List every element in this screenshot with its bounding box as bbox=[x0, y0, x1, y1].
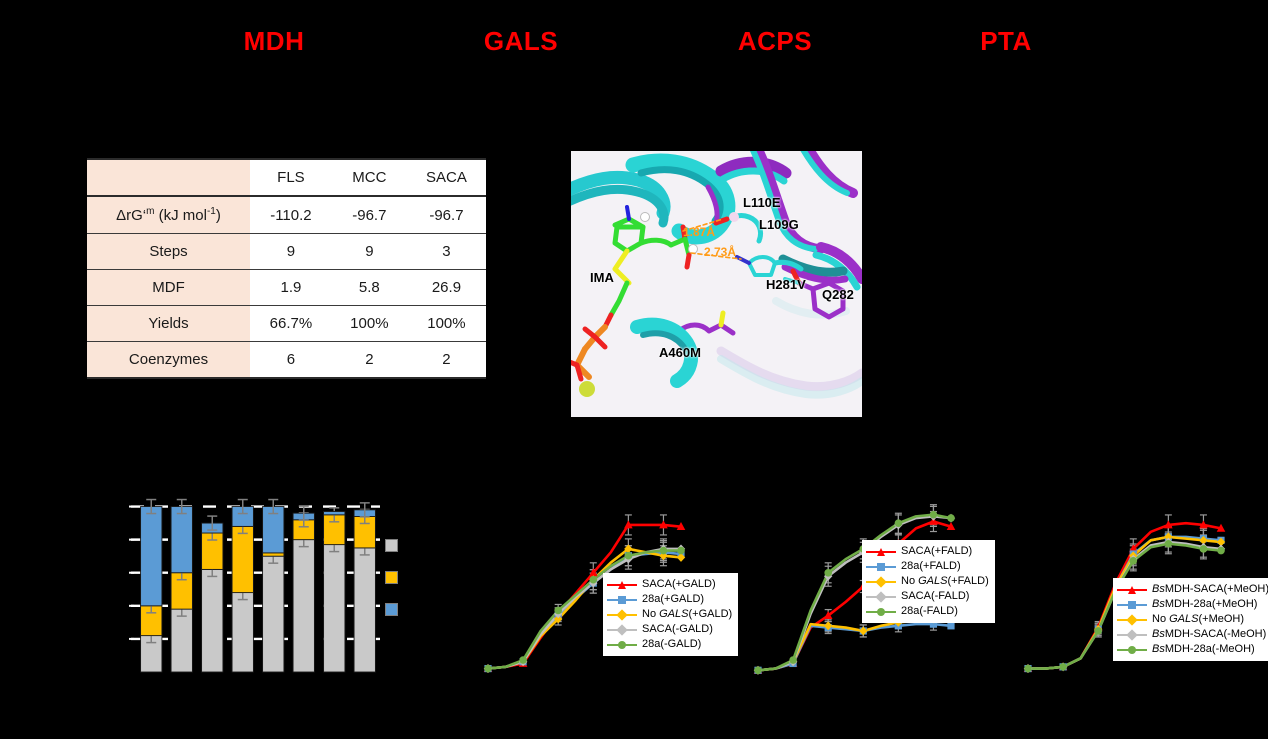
table-cell: 3 bbox=[407, 234, 486, 270]
table-header-cell-mcc: MCC bbox=[332, 159, 407, 196]
legend-item: 28a(+GALD) bbox=[607, 592, 732, 607]
legend-item: 28a(+FALD) bbox=[866, 559, 989, 574]
bar-segment bbox=[293, 540, 314, 672]
table-cell: -96.7 bbox=[332, 196, 407, 234]
enzyme-label-gals: GALS bbox=[484, 26, 558, 57]
legend-fald: SACA(+FALD)28a(+FALD)No GALS(+FALD)SACA(… bbox=[862, 540, 995, 623]
legend-swatch bbox=[1117, 644, 1147, 655]
row-label: Steps bbox=[87, 234, 250, 270]
legend-gald: SACA(+GALD)28a(+GALD)No GALS(+GALD)SACA(… bbox=[603, 573, 738, 656]
bar-legend-swatch-segment-yellow bbox=[385, 571, 398, 584]
legend-meoh: BsMDH-SACA(+MeOH)BsMDH-28a(+MeOH)No GALS… bbox=[1113, 578, 1268, 661]
residue-label-q282: Q282 bbox=[822, 287, 854, 302]
residue-label-l109g: L109G bbox=[759, 217, 799, 232]
data-point-marker bbox=[754, 666, 762, 674]
legend-item: SACA(-GALD) bbox=[607, 622, 732, 637]
legend-item: SACA(+FALD) bbox=[866, 544, 989, 559]
legend-label: 28a(+FALD) bbox=[901, 559, 961, 574]
enzyme-label-mdh: MDH bbox=[244, 26, 305, 57]
legend-swatch bbox=[607, 624, 637, 635]
legend-label: BsMDH-28a(-MeOH) bbox=[1152, 642, 1255, 657]
table-row: Yields66.7%100%100% bbox=[87, 306, 486, 342]
bar-chart-legend bbox=[385, 539, 398, 635]
bar-segment bbox=[324, 512, 345, 515]
data-point-marker bbox=[519, 656, 527, 664]
bar-segment bbox=[263, 553, 284, 556]
data-point-marker bbox=[789, 656, 797, 664]
legend-swatch bbox=[607, 579, 637, 590]
legend-item: No GALS(+FALD) bbox=[866, 574, 989, 589]
bar-segment bbox=[202, 569, 223, 672]
row-label: Yields bbox=[87, 306, 250, 342]
data-point-marker bbox=[660, 547, 668, 555]
table-cell: 1.9 bbox=[250, 270, 332, 306]
bar-segment bbox=[232, 593, 253, 672]
legend-label: SACA(+GALD) bbox=[642, 577, 716, 592]
data-point-marker bbox=[554, 607, 562, 615]
legend-swatch bbox=[866, 606, 896, 617]
legend-label: SACA(-GALD) bbox=[642, 622, 713, 637]
legend-label: No GALS(+FALD) bbox=[901, 574, 989, 589]
table-row: ΔrG‘m (kJ mol-1)-110.2-96.7-96.7 bbox=[87, 196, 486, 234]
table-header-cell-saca: SACA bbox=[407, 159, 486, 196]
protein-structure-panel: L110EL109GIMAH281VQ282A460M1.87Å2.73Å bbox=[571, 151, 862, 417]
protein-structure-render bbox=[571, 151, 862, 417]
legend-item: SACA(+GALD) bbox=[607, 577, 732, 592]
legend-swatch bbox=[1117, 584, 1147, 595]
data-point-marker bbox=[1059, 663, 1067, 671]
data-point-marker bbox=[1094, 627, 1102, 635]
legend-item: BsMDH-28a(+MeOH) bbox=[1117, 597, 1268, 612]
bar-segment bbox=[324, 545, 345, 672]
data-point-marker bbox=[895, 519, 903, 527]
legend-item: SACA(-FALD) bbox=[866, 589, 989, 604]
table-cell: 5.8 bbox=[332, 270, 407, 306]
legend-item: No GALS(+GALD) bbox=[607, 607, 732, 622]
legend-swatch bbox=[866, 591, 896, 602]
data-point-marker bbox=[589, 576, 597, 584]
table-cell: 2 bbox=[332, 342, 407, 379]
bar-legend-swatch-segment-gray bbox=[385, 539, 398, 552]
data-point-marker bbox=[947, 514, 955, 522]
legend-label: 28a(+GALD) bbox=[642, 592, 704, 607]
legend-label: BsMDH-SACA(-MeOH) bbox=[1152, 627, 1266, 642]
distance-label-1: 2.73Å bbox=[704, 245, 736, 259]
table-header: FLS MCC SACA bbox=[87, 159, 486, 196]
residue-label-l110e: L110E bbox=[743, 195, 781, 210]
table-cell: -110.2 bbox=[250, 196, 332, 234]
legend-item: 28a(-GALD) bbox=[607, 637, 732, 652]
legend-swatch bbox=[607, 609, 637, 620]
pathway-comparison-table: FLS MCC SACA ΔrG‘m (kJ mol-1)-110.2-96.7… bbox=[87, 158, 486, 379]
row-label: Coenzymes bbox=[87, 342, 250, 379]
table-cell: 9 bbox=[332, 234, 407, 270]
data-point-marker bbox=[824, 569, 832, 577]
table-cell: 66.7% bbox=[250, 306, 332, 342]
bar-segment bbox=[354, 548, 375, 672]
bar-legend-swatch-segment-blue bbox=[385, 603, 398, 616]
data-point-marker bbox=[930, 511, 938, 519]
legend-label: BsMDH-28a(+MeOH) bbox=[1152, 597, 1257, 612]
data-point-marker bbox=[677, 547, 685, 555]
legend-item: No GALS(+MeOH) bbox=[1117, 612, 1268, 627]
enzyme-label-pta: PTA bbox=[980, 26, 1032, 57]
table-row: Steps993 bbox=[87, 234, 486, 270]
table-cell: 6 bbox=[250, 342, 332, 379]
bar-segment bbox=[263, 556, 284, 672]
legend-label: 28a(-FALD) bbox=[901, 604, 958, 619]
legend-swatch bbox=[607, 639, 637, 650]
bar-segment bbox=[141, 507, 162, 606]
legend-swatch bbox=[607, 594, 637, 605]
table-row: MDF1.95.826.9 bbox=[87, 270, 486, 306]
bar-segment bbox=[171, 609, 192, 672]
data-point-marker bbox=[947, 622, 954, 629]
legend-item: BsMDH-28a(-MeOH) bbox=[1117, 642, 1268, 657]
table-header-cell-fls: FLS bbox=[250, 159, 332, 196]
table-cell: 9 bbox=[250, 234, 332, 270]
legend-item: BsMDH-SACA(-MeOH) bbox=[1117, 627, 1268, 642]
row-label: MDF bbox=[87, 270, 250, 306]
stacked-bar-chart bbox=[128, 486, 380, 678]
residue-label-h281v: H281V bbox=[766, 277, 806, 292]
legend-item: BsMDH-SACA(+MeOH) bbox=[1117, 582, 1268, 597]
legend-swatch bbox=[866, 546, 896, 557]
legend-swatch bbox=[1117, 599, 1147, 610]
legend-label: No GALS(+MeOH) bbox=[1152, 612, 1244, 627]
legend-label: No GALS(+GALD) bbox=[642, 607, 732, 622]
legend-swatch bbox=[866, 576, 896, 587]
residue-label-a460m: A460M bbox=[659, 345, 701, 360]
table-body: ΔrG‘m (kJ mol-1)-110.2-96.7-96.7Steps993… bbox=[87, 196, 486, 378]
legend-label: SACA(+FALD) bbox=[901, 544, 972, 559]
bar-segment bbox=[232, 526, 253, 592]
table-header-cell-blank bbox=[87, 159, 250, 196]
legend-swatch bbox=[1117, 614, 1147, 625]
table-header-row: FLS MCC SACA bbox=[87, 159, 486, 196]
data-point-marker bbox=[1200, 545, 1208, 553]
legend-swatch bbox=[866, 561, 896, 572]
bar-segment bbox=[171, 507, 192, 573]
legend-item: 28a(-FALD) bbox=[866, 604, 989, 619]
table-cell: -96.7 bbox=[407, 196, 486, 234]
table-cell: 2 bbox=[407, 342, 486, 379]
data-point-marker bbox=[484, 665, 492, 673]
legend-label: 28a(-GALD) bbox=[642, 637, 701, 652]
data-point-marker bbox=[1165, 540, 1173, 548]
legend-label: BsMDH-SACA(+MeOH) bbox=[1152, 582, 1268, 597]
data-point-marker bbox=[625, 552, 633, 560]
table-row: Coenzymes622 bbox=[87, 342, 486, 379]
distance-label-0: 1.87Å bbox=[683, 225, 715, 239]
table-cell: 100% bbox=[332, 306, 407, 342]
data-point-marker bbox=[1024, 665, 1032, 673]
enzyme-label-acps: ACPS bbox=[738, 26, 812, 57]
data-point-marker bbox=[1129, 557, 1137, 565]
data-point-marker bbox=[1217, 547, 1225, 555]
legend-swatch bbox=[1117, 629, 1147, 640]
table-cell: 100% bbox=[407, 306, 486, 342]
row-label: ΔrG‘m (kJ mol-1) bbox=[87, 196, 250, 234]
table-cell: 26.9 bbox=[407, 270, 486, 306]
legend-label: SACA(-FALD) bbox=[901, 589, 969, 604]
residue-label-ima: IMA bbox=[590, 270, 614, 285]
